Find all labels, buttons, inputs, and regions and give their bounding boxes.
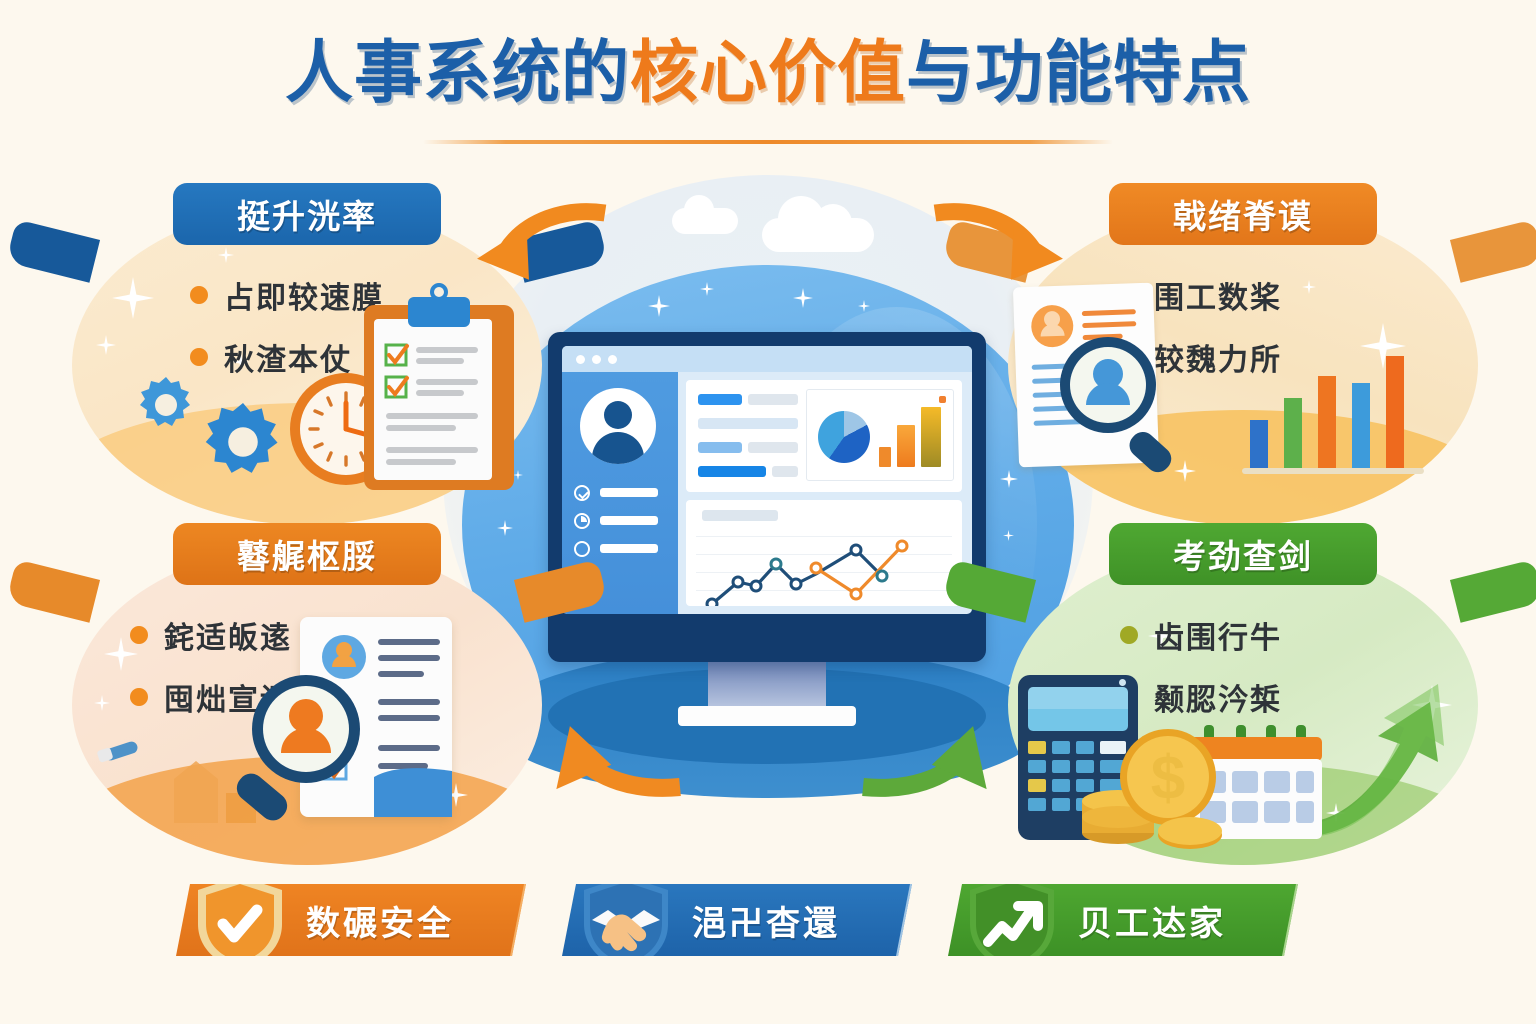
- bullet-dot-icon: [190, 286, 208, 304]
- infographic-canvas: 人事系统的核心价值与功能特点: [0, 0, 1536, 1024]
- banner-label: 考劲查剑: [1173, 530, 1313, 578]
- arrow-top-left: [470, 195, 610, 285]
- title-part-3: 与功能特点: [906, 35, 1251, 111]
- magnifier-person-icon: [218, 663, 388, 841]
- growth-arrow-icon: [1304, 640, 1464, 840]
- dashboard-card-top: [686, 380, 962, 492]
- bullet-text: 齿围行牛: [1154, 613, 1282, 657]
- banner-label: 戟绪脊谟: [1173, 190, 1313, 238]
- monitor-foot: [678, 706, 856, 726]
- banner-label: 挺升洸率: [237, 190, 377, 238]
- list-item: 占即较速膜: [190, 273, 384, 317]
- magnifier-person-icon: [1050, 327, 1200, 487]
- list-item: 齿围行牛: [1120, 613, 1282, 657]
- strip-data-security[interactable]: 数碾安全: [176, 884, 526, 956]
- svg-text:$: $: [1151, 744, 1185, 813]
- shield-growth-icon: [964, 874, 1060, 972]
- quadrant-top-right: 戟绪脊谟 围工数桨 较魏力所: [1008, 205, 1478, 525]
- bullet-text: 䤩适皈逺: [164, 613, 292, 657]
- bottom-strips: 数碾安全 浥卍杳還 贝工迏家: [0, 878, 1536, 970]
- quadrant-bottom-right: 考劲查剑 齿围行牛 颡䏰汵椞: [1008, 545, 1478, 865]
- gear-icon: [134, 373, 198, 437]
- bullet-dot-icon: [130, 688, 148, 706]
- coins-icon: $: [1074, 713, 1234, 853]
- gear-icon: [200, 399, 286, 485]
- strip-label: 数碾安全: [306, 896, 454, 945]
- handshake-icon: [578, 874, 674, 972]
- window-dot[interactable]: [592, 355, 601, 364]
- dashboard-card-bottom: [686, 500, 962, 606]
- alert-dot-icon: [939, 396, 946, 403]
- half-circle-icon: [574, 513, 590, 529]
- monitor-screen: [562, 346, 972, 614]
- banner-wing-right: [1450, 219, 1536, 282]
- list-item: 䤩适皈逺: [130, 613, 292, 657]
- cloud-icon: [762, 218, 874, 252]
- window-dot[interactable]: [608, 355, 617, 364]
- arrow-bottom-right: [855, 725, 1015, 815]
- shield-check-icon: [192, 874, 288, 972]
- banner-wing-right: [1450, 559, 1536, 622]
- clipboard-checklist-icon: [364, 305, 514, 490]
- banner-wing-left: [6, 219, 100, 282]
- check-circle-icon: [574, 485, 590, 501]
- bullet-dot-icon: [130, 626, 148, 644]
- pie-chart: [818, 411, 870, 463]
- quadrant-banner-top-right: 戟绪脊谟: [1109, 183, 1377, 245]
- strip-collaboration[interactable]: 浥卍杳還: [562, 884, 912, 956]
- bullet-dot-icon: [190, 348, 208, 366]
- quadrant-banner-top-left: 挺升洸率: [173, 183, 441, 245]
- bullet-text: 占即较速膜: [224, 273, 384, 317]
- banner-wing-left: [6, 559, 100, 622]
- window-dot[interactable]: [576, 355, 585, 364]
- empty-circle-icon: [574, 541, 590, 557]
- monitor-neck: [708, 662, 826, 708]
- window-titlebar: [562, 346, 972, 372]
- bar-chart-icon: [1250, 355, 1436, 480]
- arrow-top-right: [930, 195, 1070, 285]
- title-part-1: 人事系统的: [285, 35, 630, 111]
- quadrant-bottom-left: 鼛艉枢脮 䤩适皈逺 囤炪宣诓: [72, 545, 542, 865]
- bullet-dot-icon: [1120, 626, 1138, 644]
- strip-employee-growth[interactable]: 贝工迏家: [948, 884, 1298, 956]
- title-underline: [423, 140, 1113, 144]
- line-chart: [694, 506, 962, 606]
- banner-label: 鼛艉枢脮: [237, 530, 377, 578]
- cloud-icon: [672, 208, 738, 234]
- monitor: [548, 332, 986, 662]
- quadrant-banner-bottom-right: 考劲查剑: [1109, 523, 1377, 585]
- quadrant-banner-bottom-left: 鼛艉枢脮: [173, 523, 441, 585]
- user-avatar-icon: [580, 388, 656, 464]
- bullet-text: 围工数桨: [1154, 273, 1282, 317]
- strip-label: 贝工迏家: [1078, 896, 1226, 945]
- title-part-2: 核心价值: [630, 35, 906, 111]
- page-title: 人事系统的核心价值与功能特点: [0, 38, 1536, 109]
- mini-charts-panel: [806, 389, 954, 481]
- strip-label: 浥卍杳還: [692, 896, 840, 945]
- arrow-bottom-left: [530, 725, 690, 815]
